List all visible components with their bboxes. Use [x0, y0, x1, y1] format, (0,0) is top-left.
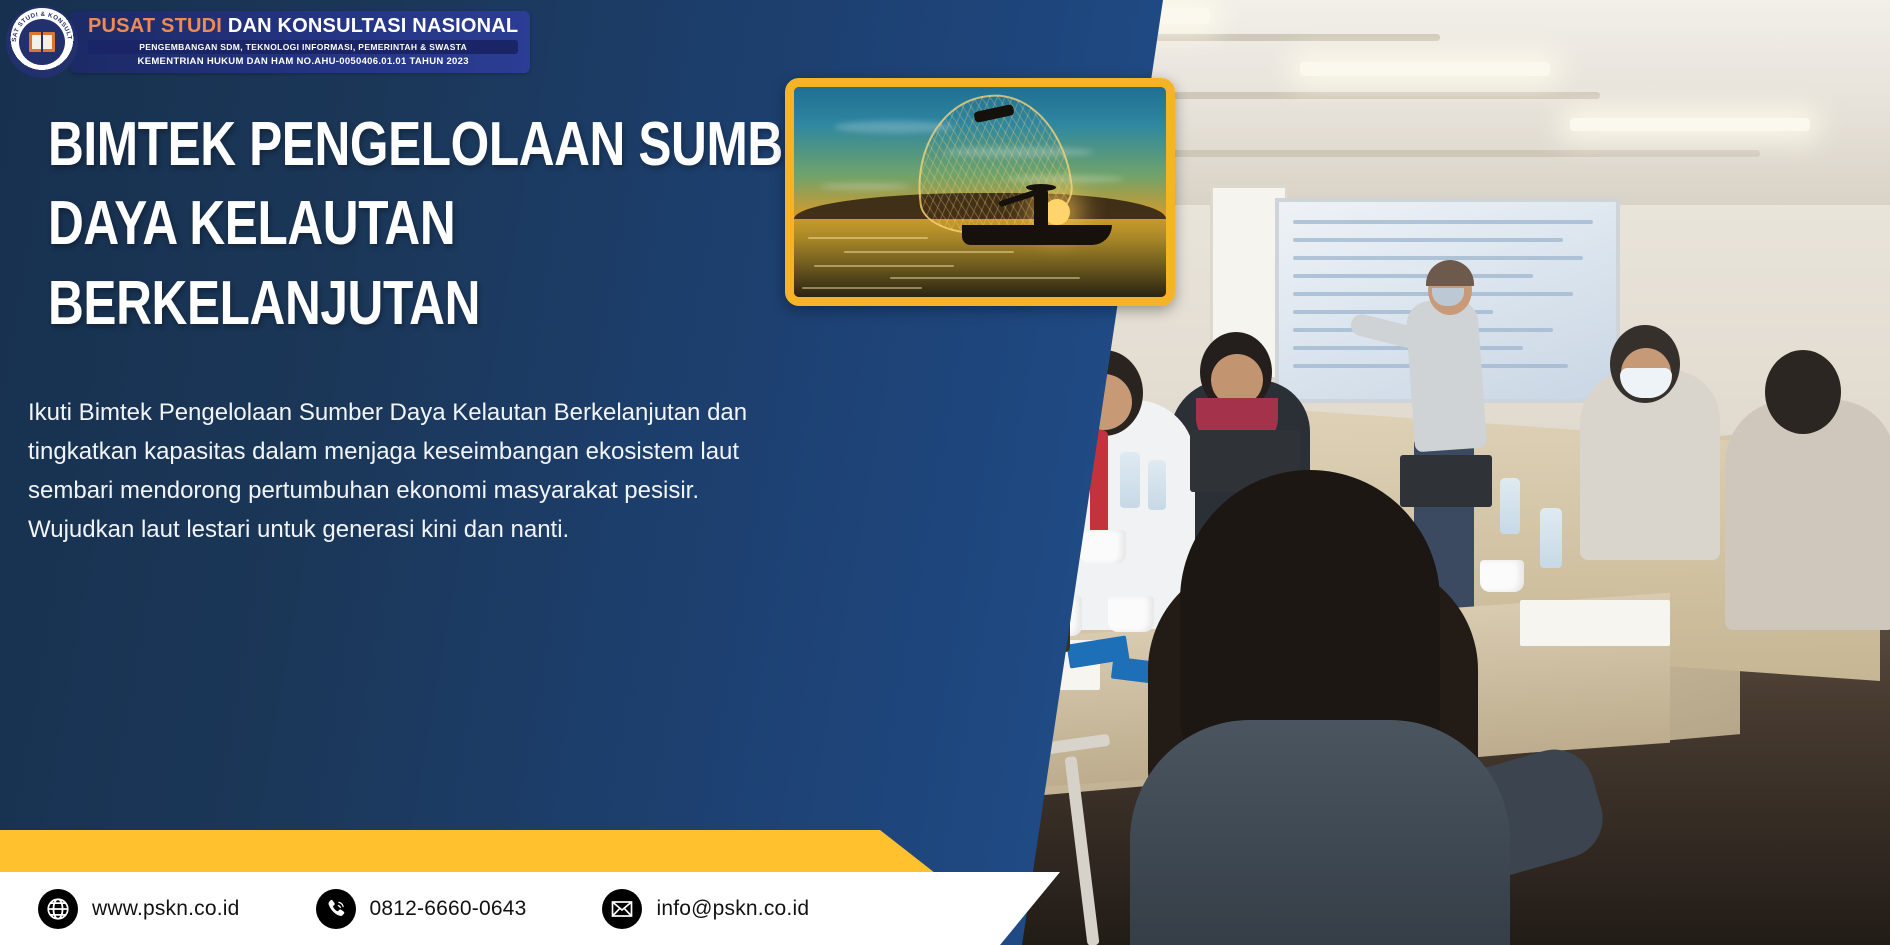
- hero-description: Ikuti Bimtek Pengelolaan Sumber Daya Kel…: [28, 394, 788, 550]
- globe-icon: [38, 889, 78, 929]
- hero-title-line-2: DAYA KELAUTAN: [48, 184, 808, 263]
- brand-logo-bar: PUSAT STUDI & KONSULTASI NASIONAL PUSAT …: [8, 8, 530, 76]
- envelope-icon: [602, 889, 642, 929]
- brand-legal-registration: KEMENTRIAN HUKUM DAN HAM NO.AHU-0050406.…: [88, 56, 518, 67]
- brand-name-block: PUSAT STUDI DAN KONSULTASI NASIONAL PENG…: [70, 11, 530, 73]
- website-label: www.pskn.co.id: [92, 897, 240, 921]
- pskn-logo-icon: PUSAT STUDI & KONSULTASI NASIONAL: [8, 8, 76, 76]
- email-label: info@pskn.co.id: [656, 897, 809, 921]
- footer-contact-email[interactable]: info@pskn.co.id: [602, 889, 809, 929]
- brand-name-part1: PUSAT STUDI: [88, 15, 222, 37]
- footer-contact-website[interactable]: www.pskn.co.id: [38, 889, 240, 929]
- logo-book-emblem: [19, 19, 65, 65]
- footer-contact-phone[interactable]: 0812-6660-0643: [316, 889, 527, 929]
- hero-title: BIMTEK PENGELOLAAN SUMBER DAYA KELAUTAN …: [48, 105, 808, 343]
- hero-title-line-1: BIMTEK PENGELOLAAN SUMBER: [48, 105, 808, 184]
- hero-title-line-3: BERKELANJUTAN: [48, 264, 808, 343]
- phone-label: 0812-6660-0643: [370, 897, 527, 921]
- inset-fisherman-photo: [785, 78, 1175, 306]
- phone-icon: [316, 889, 356, 929]
- promotional-banner: PUSAT STUDI & KONSULTASI NASIONAL PUSAT …: [0, 0, 1890, 945]
- brand-tagline: PENGEMBANGAN SDM, TEKNOLOGI INFORMASI, P…: [88, 40, 518, 54]
- yellow-accent-stripe: [0, 830, 1000, 873]
- brand-name-part2: DAN KONSULTASI NASIONAL: [228, 15, 519, 37]
